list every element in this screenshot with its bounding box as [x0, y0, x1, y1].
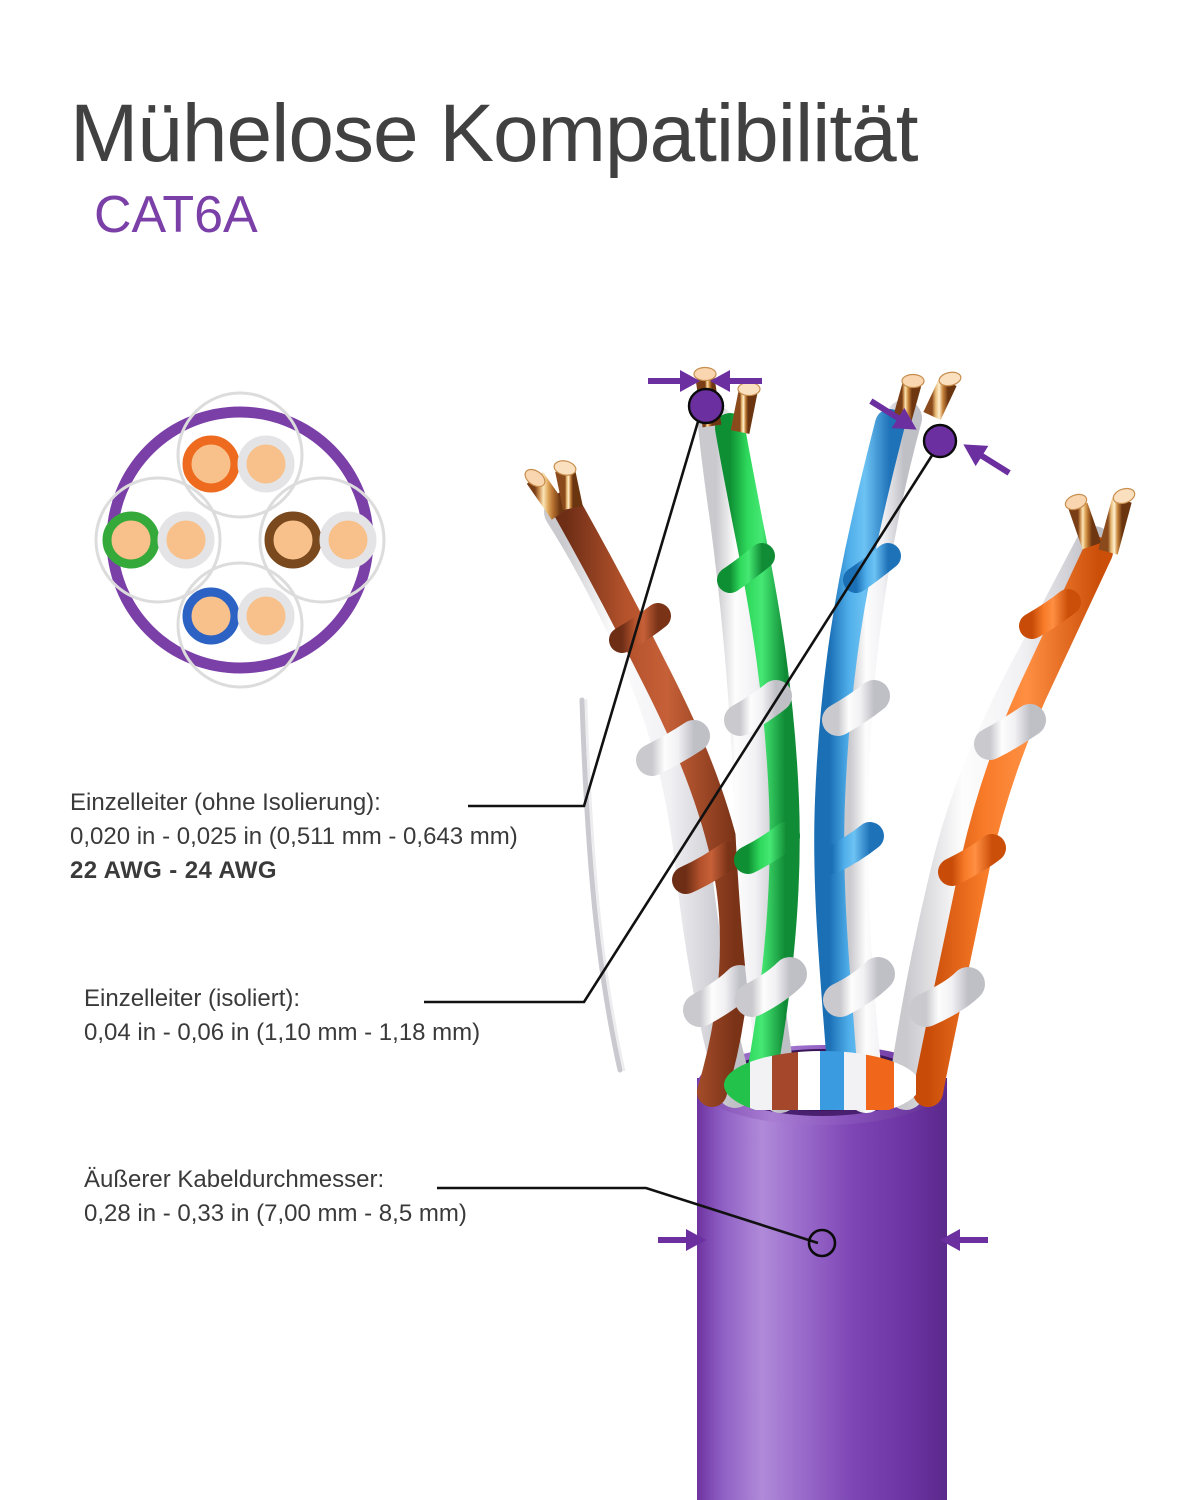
twist-cross	[1032, 602, 1068, 626]
leader-outer-diameter	[437, 1188, 818, 1243]
cross-section-jacket-ring	[112, 412, 368, 668]
pair-bubble-green	[96, 478, 220, 602]
brown-strand	[566, 506, 735, 1092]
green-strand	[730, 428, 785, 1095]
arrow-left-icon	[940, 1229, 988, 1251]
header: Mühelose Kompatibilität CAT6A	[70, 90, 1150, 244]
twist-cross	[856, 556, 888, 580]
bare-conductor-marker	[648, 370, 762, 423]
callout-outer-diameter: Äußerer Kabeldurchmesser: 0,28 in - 0,33…	[84, 1163, 467, 1231]
jacket-mouth-shadow	[724, 1049, 920, 1111]
twist-cross	[700, 982, 740, 1010]
jacket-mouth	[724, 1054, 920, 1116]
twist-cross	[832, 836, 870, 860]
callout-bare-label: Einzelleiter (ohne Isolierung):	[70, 786, 518, 820]
conductor-brown	[269, 516, 317, 564]
marker-dot-outer-diameter	[809, 1230, 835, 1256]
twist-cross	[952, 848, 992, 872]
callout-bare-value: 0,020 in - 0,025 in (0,511 mm - 0,643 mm…	[70, 820, 518, 854]
diagram-canvas: Mühelose Kompatibilität CAT6A	[0, 0, 1200, 1500]
bare-copper-blue-b	[932, 382, 948, 416]
twist-cross	[990, 720, 1030, 744]
bare-copper-brown-a	[535, 478, 560, 514]
copper-tip-face	[738, 383, 760, 396]
cross-section-group	[96, 393, 384, 687]
page-title: Mühelose Kompatibilität	[70, 90, 1150, 178]
conductor-green	[107, 516, 155, 564]
orange-white-pair	[906, 486, 1137, 1092]
copper-tip-face	[902, 375, 924, 388]
callout-insulated-label: Einzelleiter (isoliert):	[84, 982, 480, 1016]
copper-tip-face	[522, 466, 548, 490]
pair-bubble-brown	[260, 478, 384, 602]
conductor-orange	[187, 440, 235, 488]
marker-dot-bare-conductor	[689, 389, 723, 423]
outer-diameter-marker	[658, 1229, 988, 1256]
white-strand-blue	[850, 418, 904, 1095]
arrow-left-icon	[957, 434, 1016, 483]
cable-illustration	[522, 368, 1137, 1500]
twist-cross	[652, 736, 694, 760]
blue-strand	[829, 424, 890, 1095]
callout-insulated-conductor: Einzelleiter (isoliert): 0,04 in - 0,06 …	[84, 982, 480, 1050]
marker-dot-insulated-conductor	[924, 425, 956, 457]
conductor-blue	[187, 592, 235, 640]
copper-tip-face	[938, 370, 962, 387]
conductor-brown-white	[324, 516, 372, 564]
brown-white-pair	[522, 459, 740, 1092]
bare-copper-brown-b	[565, 470, 573, 508]
blue-white-pair	[829, 370, 962, 1095]
conductor-green-white	[162, 516, 210, 564]
jacket-rim	[697, 1045, 947, 1125]
outer-jacket	[697, 1078, 947, 1500]
bare-copper-green-b	[740, 392, 748, 432]
bare-copper-orange-b	[1108, 500, 1122, 552]
arrow-right-icon	[648, 370, 700, 392]
twist-cross	[748, 836, 786, 860]
orange-strand	[928, 552, 1098, 1092]
twist-cross	[840, 974, 878, 1000]
ripcord	[582, 700, 620, 1070]
twist-cross	[926, 984, 968, 1010]
callout-bare-conductor: Einzelleiter (ohne Isolierung): 0,020 in…	[70, 786, 518, 888]
twist-cross	[740, 696, 776, 720]
arrow-left-icon	[710, 370, 762, 392]
copper-tip-face	[553, 459, 577, 477]
ripcord-highlight	[586, 700, 624, 1070]
callout-bare-awg: 22 AWG - 24 AWG	[70, 854, 518, 888]
bare-copper-orange-a	[1078, 506, 1092, 546]
annotation-markers	[648, 370, 1015, 1256]
white-strand-green	[716, 424, 780, 1095]
twist-cross	[838, 696, 874, 720]
copper-tip-face	[1111, 486, 1136, 506]
arrow-right-icon	[865, 391, 924, 440]
callout-outer-value: 0,28 in - 0,33 in (7,00 mm - 8,5 mm)	[84, 1197, 467, 1231]
green-white-pair	[694, 368, 790, 1096]
bare-copper-blue-a	[902, 384, 912, 420]
twist-cross	[752, 974, 790, 1000]
twist-cross	[730, 556, 762, 580]
conductor-blue-white	[242, 592, 290, 640]
twist-cross	[622, 616, 658, 640]
arrow-right-icon	[658, 1229, 706, 1251]
callout-insulated-value: 0,04 in - 0,06 in (1,10 mm - 1,18 mm)	[84, 1016, 480, 1050]
conductor-orange-white	[242, 440, 290, 488]
pair-bubble-orange	[178, 393, 302, 517]
leader-bare-conductor	[468, 398, 705, 806]
copper-tip-face	[1063, 492, 1088, 513]
twist-cross	[686, 856, 728, 880]
white-strand-brown	[562, 512, 735, 1090]
pairs-in-mouth	[724, 1050, 916, 1110]
insulated-conductor-marker	[865, 391, 1016, 483]
copper-tip-face	[694, 368, 716, 381]
white-strand-orange	[906, 544, 1094, 1092]
callout-outer-label: Äußerer Kabeldurchmesser:	[84, 1163, 467, 1197]
pair-bubble-blue	[178, 563, 302, 687]
bare-copper-green-a	[705, 378, 712, 426]
leader-insulated-conductor	[424, 446, 938, 1002]
page-subtitle: CAT6A	[94, 186, 1150, 244]
